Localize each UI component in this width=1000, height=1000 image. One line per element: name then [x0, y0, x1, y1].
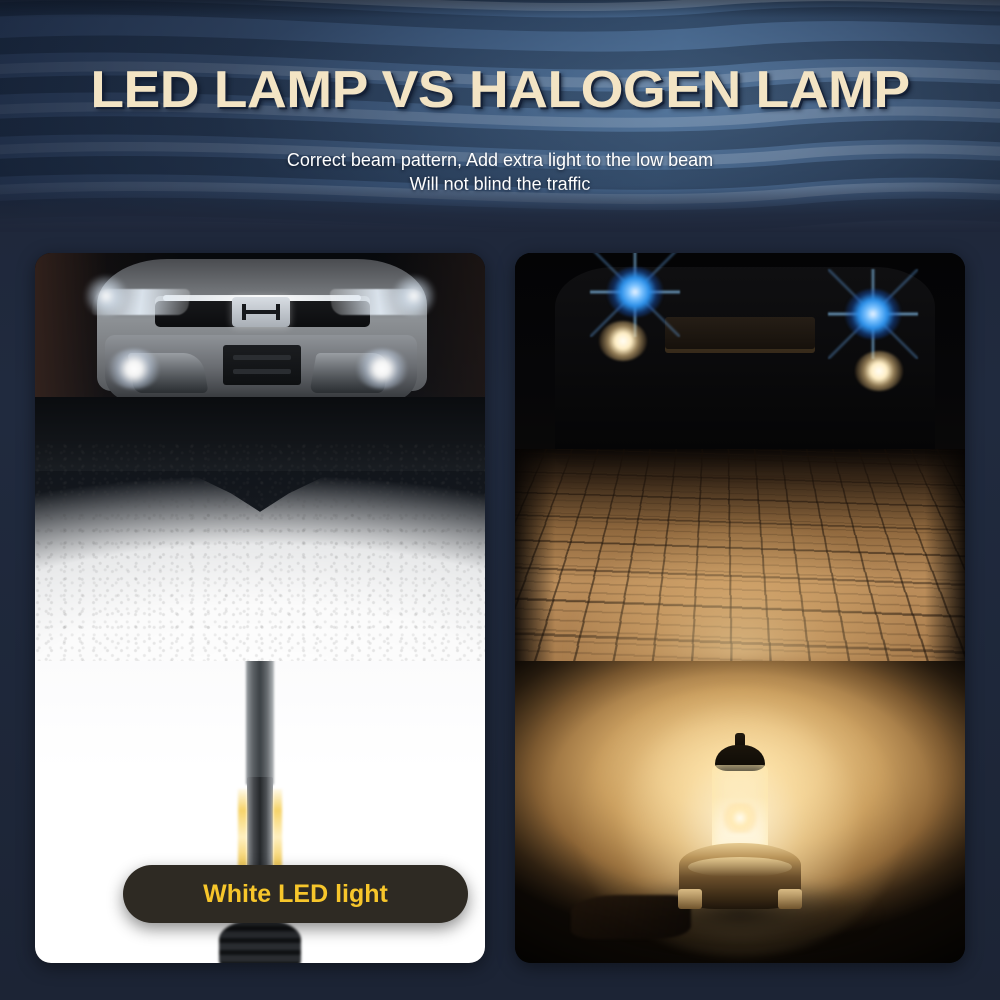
halogen-bulb-filament — [723, 803, 757, 833]
halogen-shadow-right — [925, 449, 965, 661]
page-root: LED LAMP VS HALOGEN LAMP Correct beam pa… — [0, 0, 1000, 1000]
license-plate-holder — [223, 345, 301, 385]
halogen-car-grille — [665, 317, 815, 353]
subtitle-line-1: Correct beam pattern, Add extra light to… — [287, 150, 713, 170]
honda-emblem-icon — [232, 297, 290, 327]
halogen-headlight-left — [599, 321, 647, 361]
blue-accent-light-left — [607, 267, 663, 317]
halogen-headlight-right — [855, 351, 903, 391]
led-headlight-glow-left — [83, 275, 129, 317]
page-title: LED LAMP VS HALOGEN LAMP — [0, 60, 1000, 120]
halogen-bulb-wire — [571, 895, 691, 939]
led-asphalt-texture — [35, 443, 485, 661]
halogen-bulb-tab-left — [678, 889, 702, 909]
led-label-text: White LED light — [203, 880, 388, 909]
halogen-bulb-tab-right — [778, 889, 802, 909]
blue-accent-light-right — [845, 289, 901, 339]
led-fog-light-right — [355, 349, 409, 389]
led-bulb-stem — [246, 661, 274, 785]
halogen-beam-pattern — [555, 453, 925, 661]
halogen-night-photo — [515, 253, 965, 661]
led-night-photo — [35, 253, 485, 661]
led-fog-light-left — [107, 349, 161, 389]
header-banner: LED LAMP VS HALOGEN LAMP Correct beam pa… — [0, 0, 1000, 232]
halogen-bulb-base-ring — [688, 857, 792, 877]
led-heat-sink — [219, 919, 301, 963]
banner-bottom-fade — [0, 186, 1000, 232]
comparison-panels: White LED light — [0, 253, 1000, 965]
led-headlight-glow-right — [391, 275, 437, 317]
led-label-badge: White LED light — [123, 865, 468, 923]
halogen-panel[interactable]: yellow halogen lamp — [515, 253, 965, 963]
halogen-shadow-left — [515, 449, 555, 661]
led-panel[interactable]: White LED light — [35, 253, 485, 963]
halogen-bulb-photo — [515, 661, 965, 963]
